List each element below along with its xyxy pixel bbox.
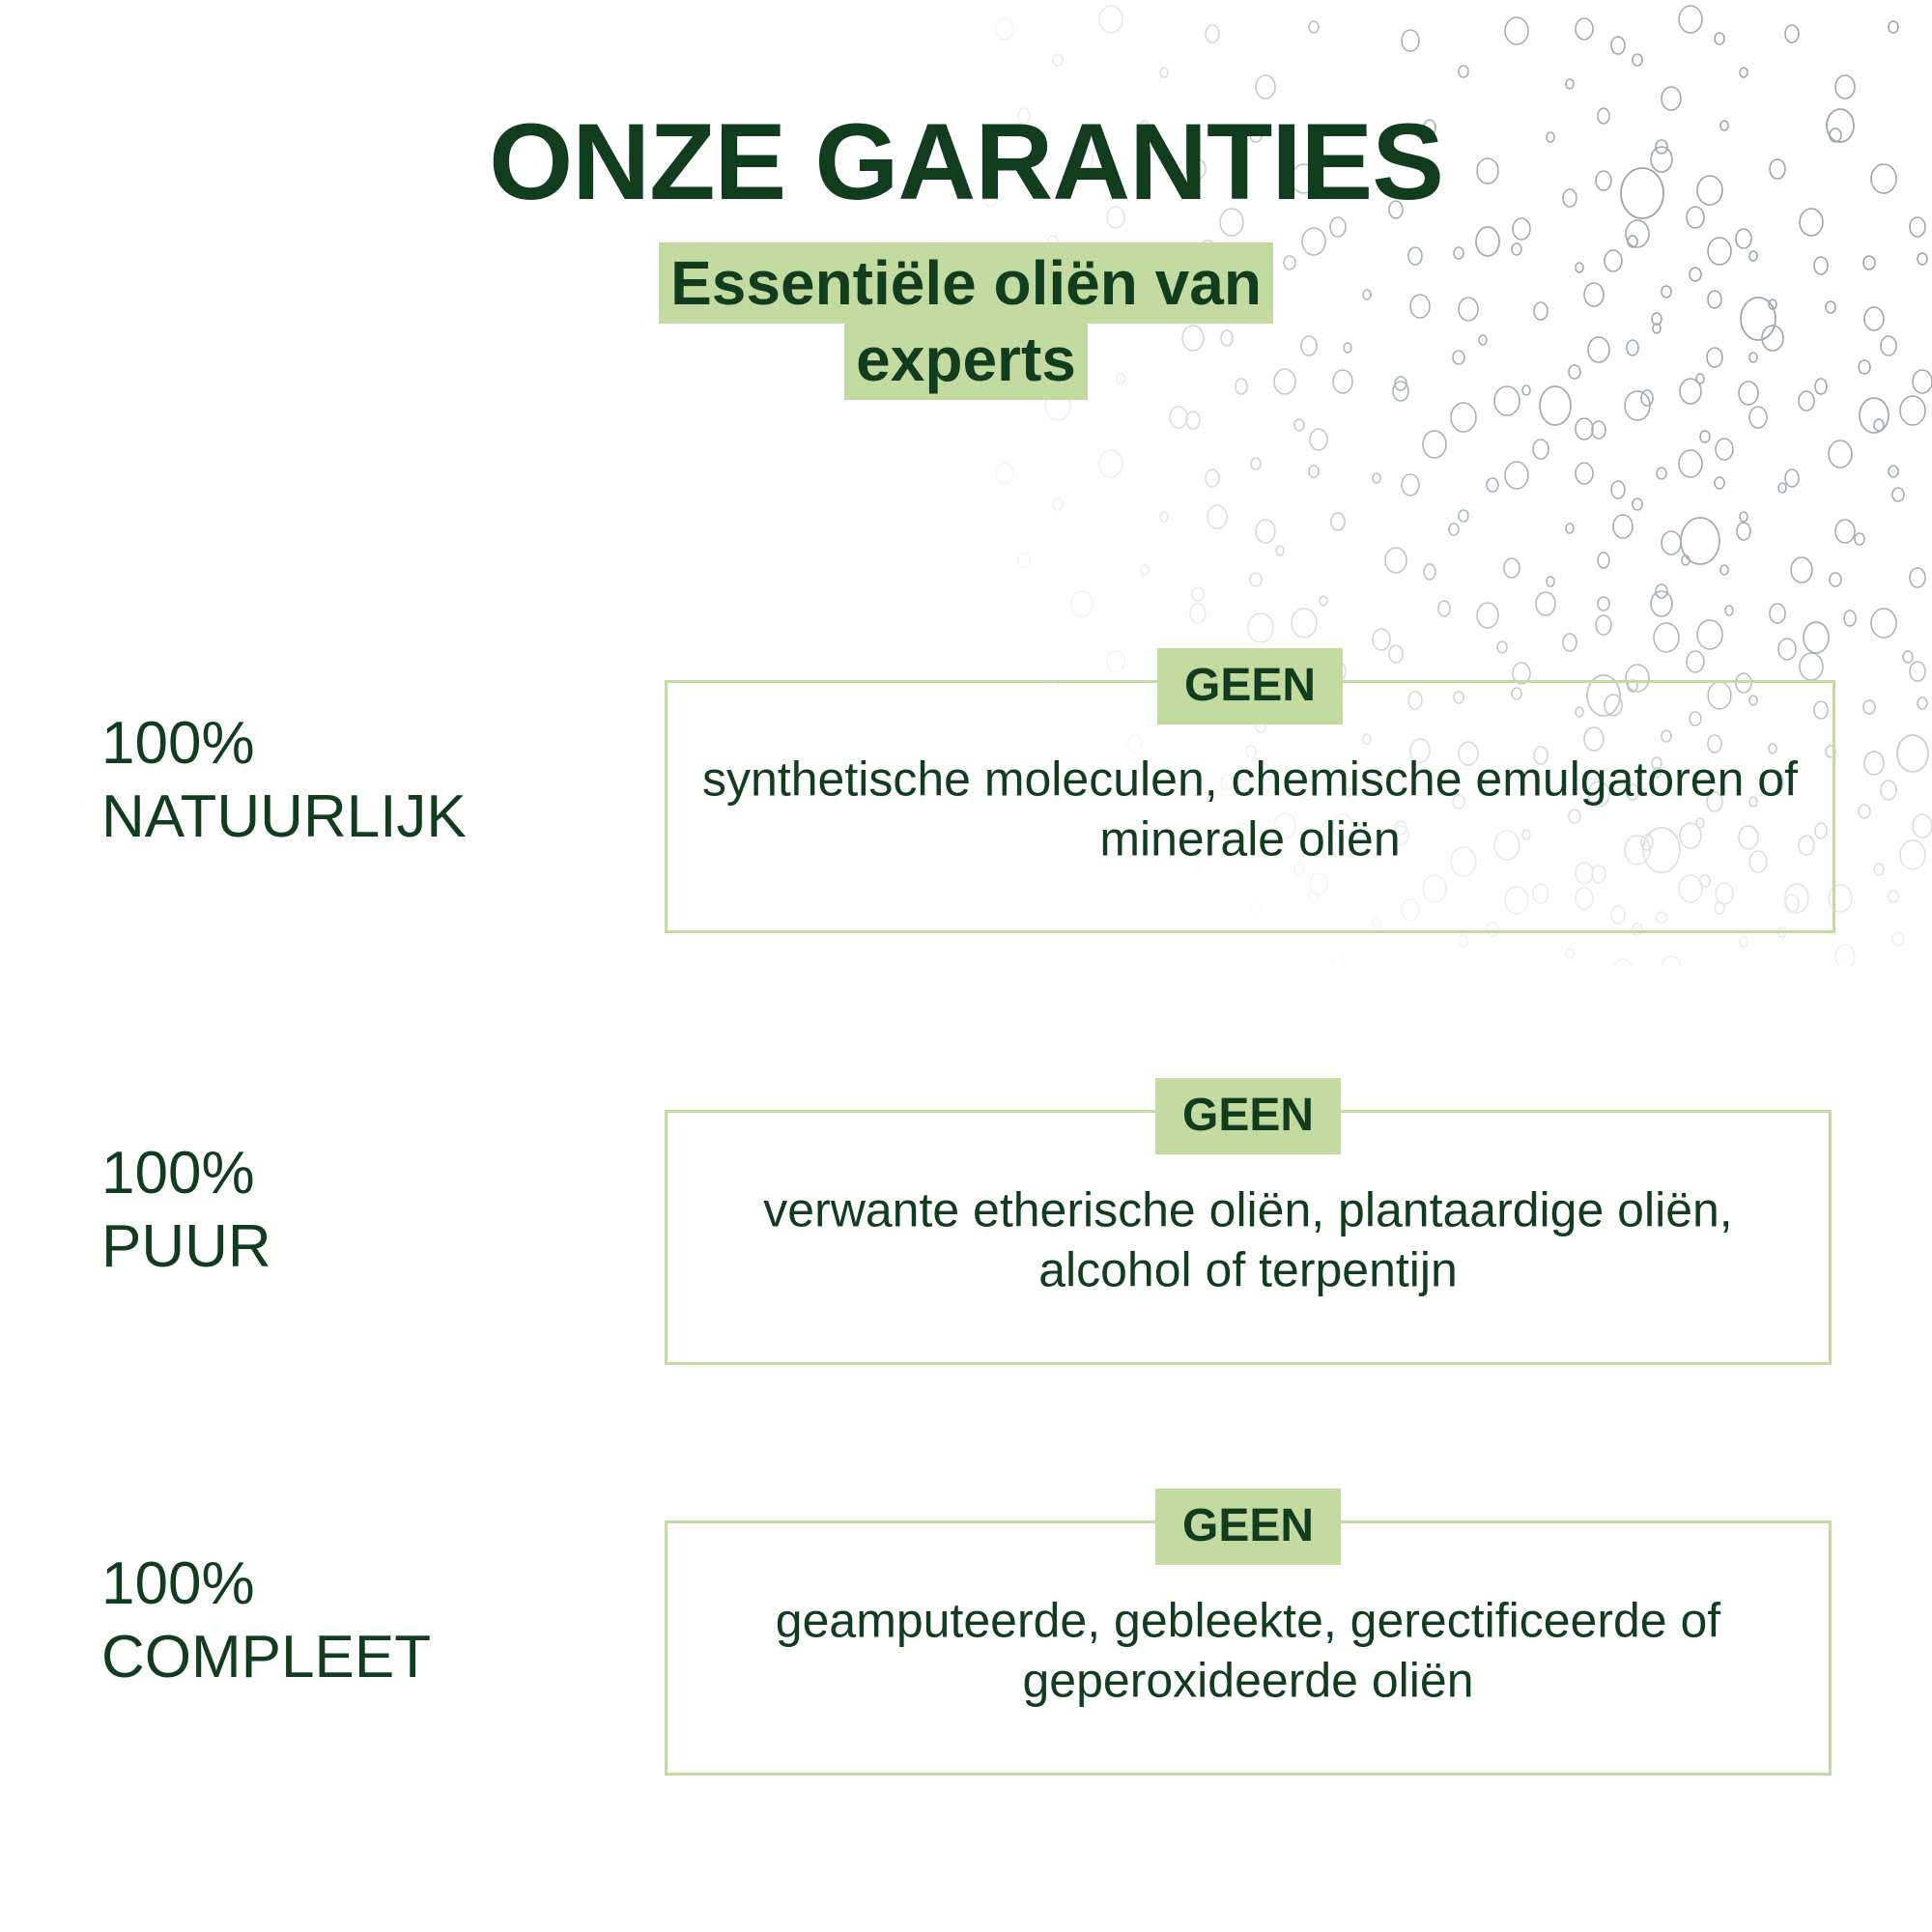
- page-title: ONZE GARANTIES: [0, 0, 1932, 216]
- claim-box: GEEN verwante etherische oliën, plantaar…: [665, 1110, 1832, 1365]
- claim-text: verwante etherische oliën, plantaardige …: [700, 1179, 1796, 1299]
- status-badge: GEEN: [1157, 648, 1343, 724]
- guarantees-infographic: ONZE GARANTIES Essentiële oliën van expe…: [0, 0, 1932, 1932]
- status-badge: GEEN: [1155, 1078, 1341, 1154]
- guarantee-word: NATUURLIJK: [101, 781, 642, 854]
- claim-text: synthetische moleculen, chemische emulga…: [700, 749, 1800, 868]
- status-badge: GEEN: [1155, 1489, 1341, 1565]
- guarantee-label: 100% NATUURLIJK: [101, 707, 642, 853]
- claim-text: geamputeerde, gebleekte, gerectificeerde…: [700, 1590, 1796, 1710]
- guarantee-percent: 100%: [101, 1137, 642, 1210]
- guarantee-label: 100% PUUR: [101, 1137, 642, 1283]
- subtitle-line-2: experts: [844, 319, 1088, 400]
- guarantee-row-compleet: 100% COMPLEET GEEN geamputeerde, gebleek…: [0, 1439, 1932, 1845]
- guarantee-percent: 100%: [101, 707, 642, 781]
- guarantee-percent: 100%: [101, 1548, 642, 1621]
- guarantee-row-puur: 100% PUUR GEEN verwante etherische oliën…: [0, 1029, 1932, 1435]
- subtitle-line-1: Essentiële oliën van: [659, 242, 1273, 324]
- guarantee-row-natuurlijk: 100% NATUURLIJK GEEN synthetische molecu…: [0, 599, 1932, 1005]
- guarantee-label: 100% COMPLEET: [101, 1548, 642, 1693]
- subtitle: Essentiële oliën van experts: [541, 245, 1391, 399]
- claim-box: GEEN geamputeerde, gebleekte, gerectific…: [665, 1520, 1832, 1776]
- header: ONZE GARANTIES Essentiële oliën van expe…: [0, 0, 1932, 399]
- guarantee-word: PUUR: [101, 1210, 642, 1284]
- guarantee-word: COMPLEET: [101, 1621, 642, 1694]
- claim-box: GEEN synthetische moleculen, chemische e…: [665, 680, 1835, 933]
